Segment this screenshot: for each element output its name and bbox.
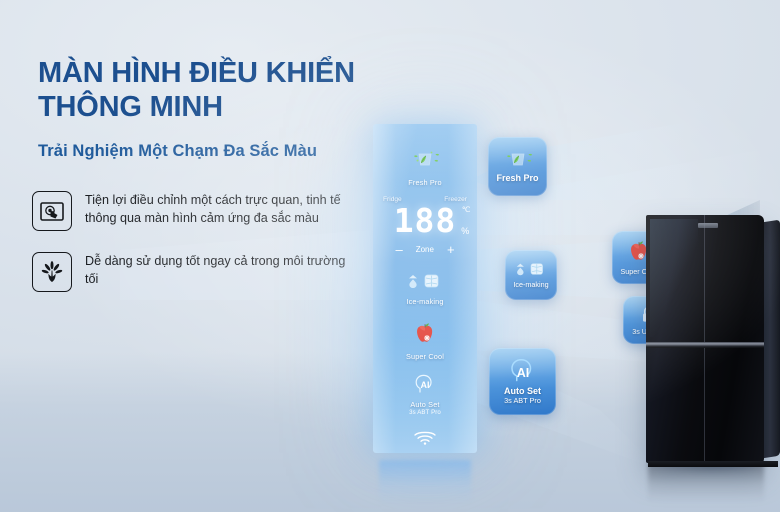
chip-auto-set-label: Auto Set [504, 386, 541, 396]
leaf-glass-icon [500, 150, 536, 170]
fridge-glare [650, 219, 698, 337]
chip-auto-set[interactable]: AI Auto Set 3s ABT Pro [489, 348, 556, 415]
panel-wifi[interactable]: Wi-Fi [373, 429, 477, 453]
page-title: MÀN HÌNH ĐIỀU KHIỂN THÔNG MINH [38, 57, 418, 125]
headline-line-2: THÔNG MINH [38, 91, 418, 125]
zone-label: Zone [416, 245, 434, 254]
zone-minus-button[interactable]: – [395, 243, 402, 256]
chip-fresh-pro[interactable]: Fresh Pro [488, 137, 547, 196]
feature-list: Tiện lợi điều chỉnh một cách trực quan, … [32, 190, 352, 312]
panel-auto-set-label: Auto Set [373, 400, 477, 409]
door-seam-vertical [704, 215, 705, 463]
panel-reflection [379, 460, 471, 504]
chip-auto-set-sub: 3s ABT Pro [504, 396, 541, 405]
panel-temperature-block[interactable]: Fridge Freezer 188 ℃ % – Zone + [373, 196, 477, 256]
wifi-icon [412, 429, 438, 446]
panel-zone-controls[interactable]: – Zone + [373, 243, 477, 256]
feature-item-dark-use-label: Dễ dàng sử dụng tốt ngay cả trong môi tr… [85, 251, 352, 289]
feature-item-touchscreen-label: Tiện lợi điều chỉnh một cách trực quan, … [85, 190, 352, 228]
ice-cube-icon [403, 272, 447, 290]
banner-stage: MÀN HÌNH ĐIỀU KHIỂN THÔNG MINH Trải Nghi… [0, 0, 780, 512]
leaf-hand-icon [32, 252, 72, 292]
ice-cube-icon [511, 261, 551, 277]
panel-ice-making[interactable]: Ice-making [373, 272, 477, 306]
headline-line-1: MÀN HÌNH ĐIỀU KHIỂN [38, 57, 355, 89]
panel-fresh-pro[interactable]: Fresh Pro [373, 150, 477, 187]
panel-super-cool-label: Super Cool [373, 352, 477, 361]
svg-text:AI: AI [516, 366, 529, 380]
brand-logo [698, 223, 718, 228]
chip-fresh-pro-label: Fresh Pro [496, 173, 538, 183]
chip-ice-making-label: Ice-making [513, 280, 548, 289]
panel-unit-percent: % [461, 227, 470, 236]
panel-auto-set[interactable]: AI Auto Set 3s ABT Pro [373, 374, 477, 416]
fridge-base [648, 461, 778, 467]
fridge-reflection [648, 462, 764, 502]
ai-head-icon: AI [508, 358, 538, 383]
refrigerator-product [646, 215, 764, 463]
panel-auto-set-sub: 3s ABT Pro [373, 409, 477, 416]
leaf-glass-icon [407, 150, 443, 170]
svg-text:AI: AI [421, 380, 430, 390]
apple-snow-icon [412, 322, 438, 346]
panel-ice-making-label: Ice-making [373, 297, 477, 306]
zone-plus-button[interactable]: + [447, 243, 455, 256]
ai-head-icon: AI [413, 374, 437, 394]
panel-temperature-value: 188 ℃ % [394, 204, 457, 237]
chip-ice-making[interactable]: Ice-making [505, 250, 557, 300]
door-handle-divider [646, 342, 764, 348]
control-panel-display[interactable]: Fresh Pro Fridge Freezer 188 ℃ % – Zone … [373, 124, 477, 453]
panel-unit-celsius: ℃ [462, 206, 471, 214]
panel-super-cool[interactable]: Super Cool [373, 322, 477, 361]
fridge-body [646, 215, 764, 463]
touchscreen-icon [32, 191, 72, 231]
feature-item-dark-use: Dễ dàng sử dụng tốt ngay cả trong môi tr… [32, 251, 352, 292]
feature-item-touchscreen: Tiện lợi điều chỉnh một cách trực quan, … [32, 190, 352, 231]
panel-fresh-pro-label: Fresh Pro [373, 178, 477, 187]
fridge-side-panel [762, 220, 780, 459]
